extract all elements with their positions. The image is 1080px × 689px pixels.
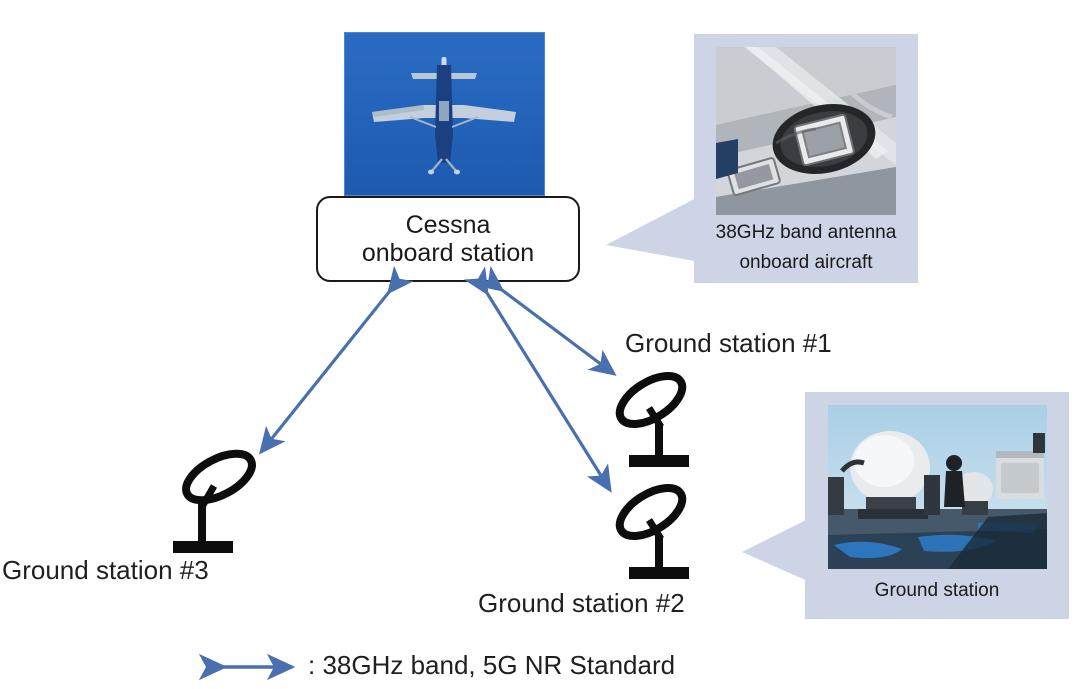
aircraft-cabin-antenna-photo: [716, 47, 896, 215]
link-cessna-to-gs2[interactable]: [487, 293, 610, 490]
ground-station-array-photo: [828, 405, 1047, 569]
cessna-node-line-2: onboard station: [362, 239, 534, 267]
callout-antenna-caption-1: 38GHz band antenna: [716, 221, 897, 245]
ground-station-2-label: Ground station #2: [478, 588, 685, 619]
callout-ground-tail: [742, 518, 810, 582]
ground-station-1-dish-icon: [612, 366, 690, 467]
ground-station-3-dish-icon: [173, 444, 259, 553]
callout-ground-caption: Ground station: [875, 579, 1000, 603]
legend-label: : 38GHz band, 5G NR Standard: [308, 650, 675, 681]
link-cessna-to-gs1[interactable]: [502, 290, 614, 374]
cessna-node-line-1: Cessna: [406, 211, 491, 239]
diagram-canvas: Cessna onboard station: [0, 0, 1080, 689]
callout-antenna-caption-2: onboard aircraft: [739, 251, 872, 275]
ground-station-1-label: Ground station #1: [625, 328, 832, 359]
callout-ground-station: Ground station: [805, 392, 1069, 619]
cessna-aircraft-photo: [345, 33, 544, 195]
callout-antenna-tail: [606, 196, 700, 262]
ground-station-2-dish-icon: [612, 478, 690, 579]
ground-station-3-label: Ground station #3: [2, 555, 209, 586]
link-cessna-to-gs3[interactable]: [261, 292, 389, 452]
callout-antenna-onboard: 38GHz band antenna onboard aircraft: [694, 34, 918, 283]
cessna-onboard-station-node[interactable]: Cessna onboard station: [316, 196, 580, 282]
